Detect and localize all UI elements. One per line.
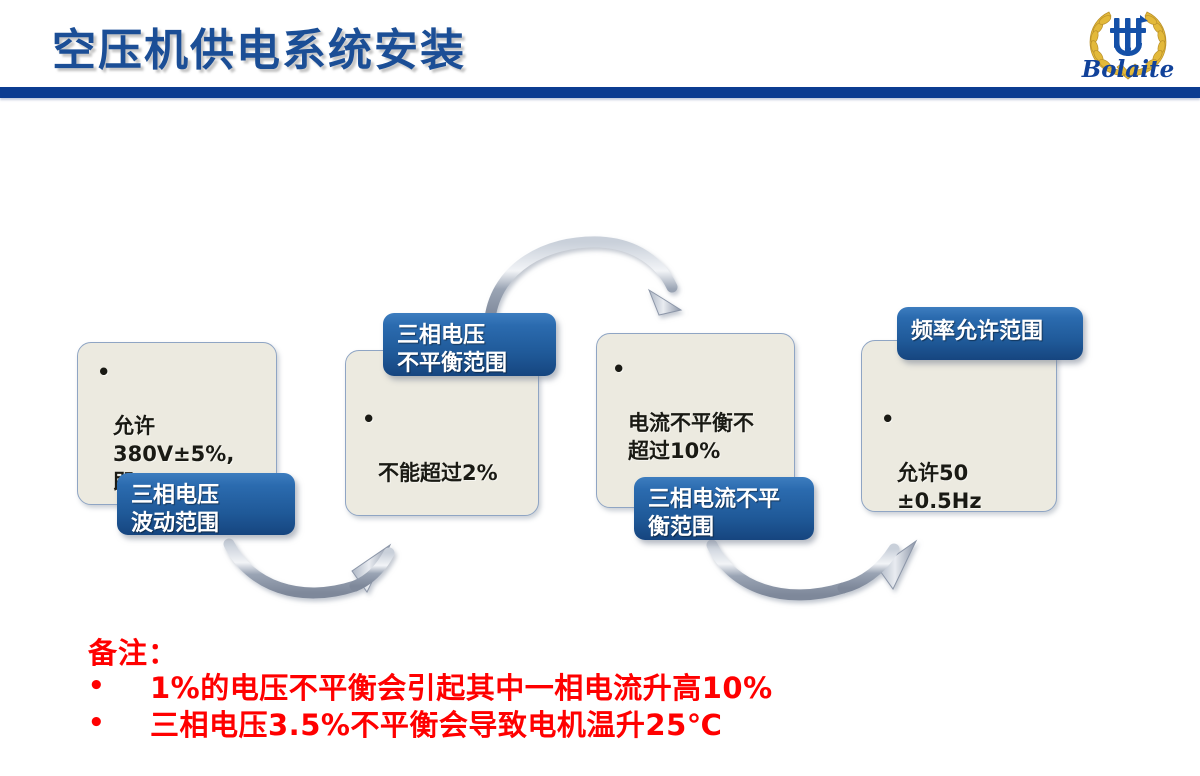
- stage-4-body: • 允许50 ±0.5Hz: [897, 405, 1062, 516]
- bullet-icon: •: [881, 406, 894, 434]
- note-item-text: 1%的电压不平衡会引起其中一相电流升高10%: [150, 670, 773, 707]
- note-item: • 1%的电压不平衡会引起其中一相电流升高10%: [88, 670, 988, 707]
- bullet-icon: •: [88, 707, 150, 740]
- stage-4-body-text: 允许50 ±0.5Hz: [897, 461, 982, 513]
- notes-block: 备注： • 1%的电压不平衡会引起其中一相电流升高10% • 三相电压3.5%不…: [88, 636, 988, 744]
- stage-4-label[interactable]: 频率允许范围: [897, 307, 1083, 360]
- notes-title: 备注：: [88, 636, 988, 670]
- note-item-text: 三相电压3.5%不平衡会导致电机温升25℃: [150, 707, 722, 744]
- bullet-icon: •: [88, 670, 150, 703]
- note-item: • 三相电压3.5%不平衡会导致电机温升25℃: [88, 707, 988, 744]
